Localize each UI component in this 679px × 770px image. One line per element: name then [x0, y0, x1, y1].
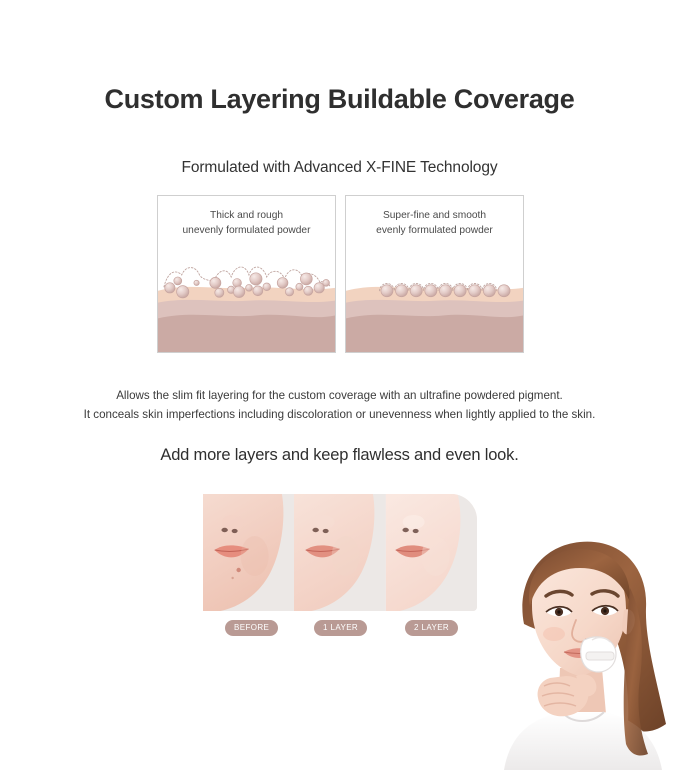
description-line-1: Allows the slim fit layering for the cus… [0, 386, 679, 405]
photo-one-layer [294, 494, 385, 611]
badge-one-layer: 1 LAYER [314, 620, 367, 636]
before-after-photo-strip [203, 494, 477, 611]
photo-before [203, 494, 294, 611]
photo-two-layer [386, 494, 477, 611]
caption-line-2: unevenly formulated powder [158, 223, 335, 238]
tagline: Add more layers and keep flawless and ev… [0, 446, 679, 465]
diagram-panel-uneven-caption: Thick and rough unevenly formulated powd… [158, 208, 335, 238]
face-photo-two-layer [386, 494, 477, 611]
diagram-panel-uneven: Thick and rough unevenly formulated powd… [157, 195, 336, 353]
face-photo-one-layer [294, 494, 385, 611]
page-title: Custom Layering Buildable Coverage [0, 84, 679, 115]
description-text: Allows the slim fit layering for the cus… [0, 386, 679, 424]
description-line-2: It conceals skin imperfections including… [0, 405, 679, 424]
cushion-puff-shape [581, 637, 616, 672]
model-applying-cushion-puff-illustration [480, 528, 679, 770]
powder-comparison-diagram: Thick and rough unevenly formulated powd… [157, 195, 524, 353]
badge-two-layer: 2 LAYER [405, 620, 458, 636]
diagram-panel-even-caption: Super-fine and smooth evenly formulated … [346, 208, 523, 238]
caption-line-2: evenly formulated powder [346, 223, 523, 238]
model-photo [480, 528, 679, 770]
diagram-panel-even: Super-fine and smooth evenly formulated … [345, 195, 524, 353]
page-subtitle: Formulated with Advanced X-FINE Technolo… [0, 159, 679, 177]
caption-line-1: Thick and rough [158, 208, 335, 223]
caption-line-1: Super-fine and smooth [346, 208, 523, 223]
layer-badge-row: BEFORE 1 LAYER 2 LAYER [203, 620, 477, 637]
face-photo-before [203, 494, 294, 611]
badge-before: BEFORE [225, 620, 278, 636]
